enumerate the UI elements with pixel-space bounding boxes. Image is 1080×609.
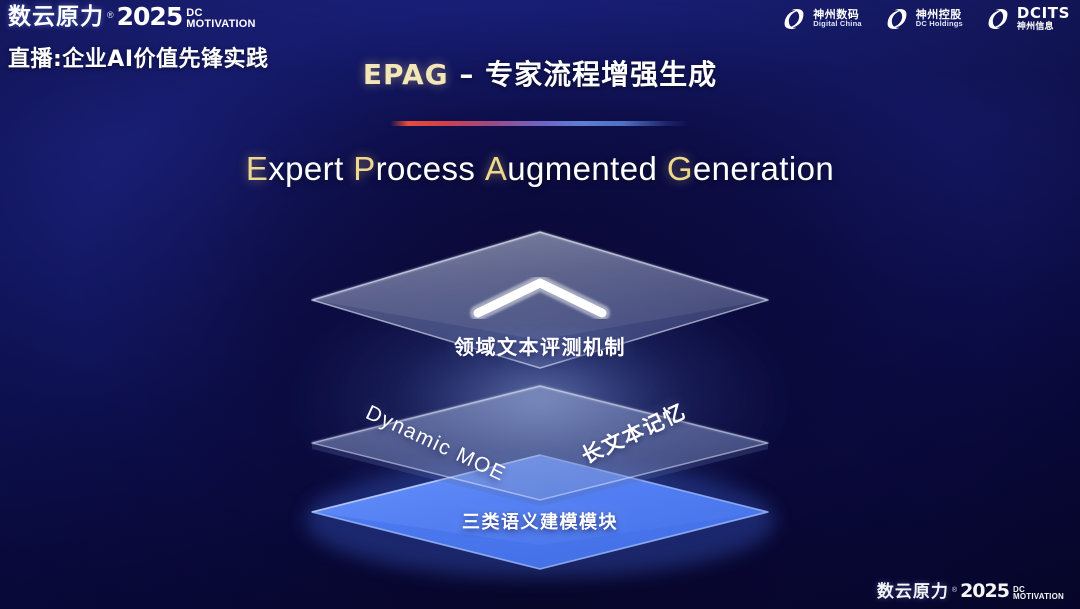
subtitle-word-process: rocess (376, 150, 476, 187)
subtitle-cap-g: G (667, 150, 693, 187)
page-title: EPAG – 专家流程增强生成 (0, 53, 1080, 93)
footer-brand-name-cn: 数云原力 (877, 584, 949, 601)
partner-logo-dc-holdings: 神州控股 DC Holdings (884, 7, 963, 31)
slide-canvas: 数云原力®2025 DC MOTIVATION 直播:企业AI价值先锋实践 神州… (0, 0, 1080, 609)
brand-motivation-label: MOTIVATION (186, 19, 255, 29)
partner-name-en: DC Holdings (916, 20, 963, 28)
swirl-logo-icon (781, 7, 807, 31)
partner-logo-text: DCITS 神州信息 (1017, 6, 1070, 31)
subtitle-word-augmented: ugmented (507, 150, 657, 187)
layer-label-dynamic-moe: Dynamic MOE (362, 401, 510, 487)
footer-brand-logo: 数云原力®2025 DC MOTIVATION (877, 582, 1064, 601)
subtitle-word-expert: xpert (268, 150, 343, 187)
partner-name-en: 神州信息 (1017, 22, 1070, 31)
swirl-logo-icon (985, 7, 1011, 31)
brand-dc-label: DC (186, 8, 255, 18)
subtitle-cap-a: A (485, 150, 507, 187)
partner-logo-text: 神州控股 DC Holdings (916, 9, 963, 28)
title-chinese: – 专家流程增强生成 (449, 58, 718, 91)
layer-label-top: 领域文本评测机制 (0, 331, 1080, 360)
title-acronym: EPAG (363, 58, 449, 91)
footer-brand-year: 2025 (960, 582, 1009, 601)
brand-dc-motivation: DC MOTIVATION (186, 8, 255, 29)
partner-logo-group: 神州数码 Digital China 神州控股 DC Holdings DCIT… (781, 6, 1070, 31)
partner-logo-dcits: DCITS 神州信息 (985, 6, 1070, 31)
brand-registered-mark: ® (107, 11, 114, 20)
chevron-up-icon (478, 283, 602, 313)
swirl-logo-icon (884, 7, 910, 31)
page-subtitle-english: Expert Process Augmented Generation (0, 150, 1080, 188)
footer-brand-registered-mark: ® (952, 587, 957, 594)
partner-name-en: Digital China (813, 20, 861, 28)
subtitle-cap-e: E (246, 150, 268, 187)
partner-logo-digital-china: 神州数码 Digital China (781, 7, 861, 31)
footer-brand-dc-motivation: DC MOTIVATION (1013, 586, 1064, 601)
footer-brand-motivation-label: MOTIVATION (1013, 593, 1064, 601)
subtitle-word-generation: eneration (693, 150, 834, 187)
layer-label-long-text-memory: 长文本记忆 (576, 395, 691, 470)
brand-logo: 数云原力®2025 DC MOTIVATION (8, 4, 328, 29)
brand-year: 2025 (117, 4, 183, 29)
partner-name-cn: DCITS (1017, 6, 1070, 22)
brand-name-cn: 数云原力 (8, 6, 104, 29)
partner-logo-text: 神州数码 Digital China (813, 9, 861, 28)
subtitle-cap-p: P (353, 150, 375, 187)
title-divider (390, 121, 690, 126)
layer-label-bottom: 三类语义建模模块 (0, 508, 1080, 534)
